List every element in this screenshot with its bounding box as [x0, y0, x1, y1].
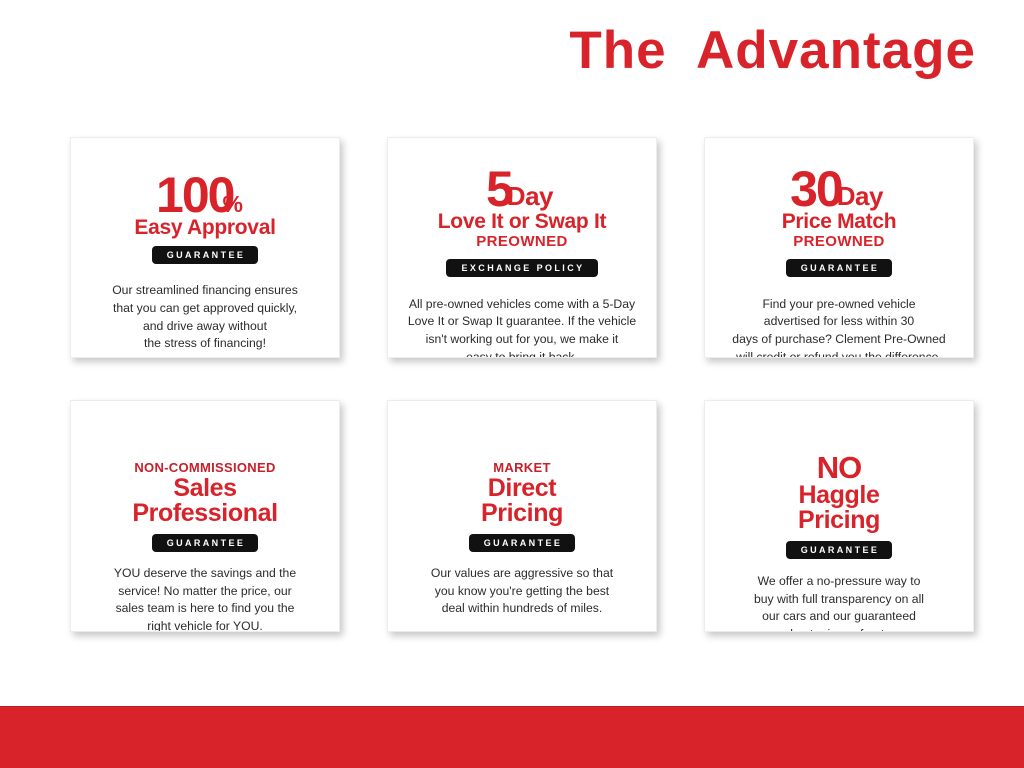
headline-number: 30 — [790, 168, 842, 211]
headline-combo: 5 Day — [486, 168, 558, 211]
headline-line-1: Direct — [488, 476, 556, 501]
guarantee-badge: GUARANTEE — [469, 534, 576, 552]
advantage-card-easy-approval[interactable]: 100 % Easy Approval GUARANTEE Our stream… — [70, 137, 340, 358]
card-headline-block: NON-COMMISSIONED Sales Professional GUAR… — [83, 461, 327, 552]
card-body-text: We offer a no-pressure way to buy with f… — [750, 573, 928, 632]
page-header: The Advantage — [0, 0, 1024, 100]
card-body-text: All pre-owned vehicles come with a 5-Day… — [404, 296, 640, 358]
card-headline-block: 5 Day Love It or Swap It PREOWNED EXCHAN… — [400, 168, 644, 277]
headline-subtitle: Price Match — [782, 211, 897, 232]
headline-day-suffix: Day — [837, 183, 883, 209]
headline-mega: NO — [817, 452, 862, 483]
headline-line-1: Sales — [173, 476, 236, 501]
exchange-policy-badge: EXCHANGE POLICY — [446, 259, 597, 277]
headline-line-2: Professional — [132, 501, 277, 526]
advantage-page: The Advantage 100 % Easy Approval GUARAN… — [0, 0, 1024, 768]
advantage-card-grid: 100 % Easy Approval GUARANTEE Our stream… — [70, 137, 974, 632]
card-headline-block: 100 % Easy Approval GUARANTEE — [83, 174, 327, 264]
card-headline-block: MARKET Direct Pricing GUARANTEE — [400, 461, 644, 552]
advantage-card-love-it-or-swap-it[interactable]: 5 Day Love It or Swap It PREOWNED EXCHAN… — [387, 137, 657, 358]
headline-subtitle: Love It or Swap It — [438, 211, 606, 232]
card-headline-block: 30 Day Price Match PREOWNED GUARANTEE — [717, 168, 961, 277]
headline-preowned-caps: PREOWNED — [793, 233, 885, 250]
guarantee-badge: GUARANTEE — [786, 541, 893, 559]
headline-preowned-caps: PREOWNED — [476, 233, 568, 250]
card-headline-block: NO Haggle Pricing GUARANTEE — [717, 452, 961, 559]
headline-subtitle: Easy Approval — [134, 217, 275, 238]
headline-day-suffix: Day — [507, 183, 553, 209]
headline-line-2: Pricing — [798, 508, 880, 533]
card-body-text: Find your pre-owned vehicle advertised f… — [728, 296, 949, 358]
headline-percent-suffix: % — [222, 193, 242, 216]
advantage-card-non-commissioned-sales[interactable]: NON-COMMISSIONED Sales Professional GUAR… — [70, 400, 340, 632]
advantage-card-market-direct-pricing[interactable]: MARKET Direct Pricing GUARANTEE Our valu… — [387, 400, 657, 632]
guarantee-badge: GUARANTEE — [152, 246, 259, 264]
headline-combo: 30 Day — [790, 168, 888, 211]
headline-line-1: Haggle — [799, 483, 880, 508]
headline-line-2: Pricing — [481, 501, 563, 526]
card-body-text: Our streamlined financing ensures that y… — [108, 282, 302, 353]
advantage-card-no-haggle-pricing[interactable]: NO Haggle Pricing GUARANTEE We offer a n… — [704, 400, 974, 632]
advantage-card-price-match[interactable]: 30 Day Price Match PREOWNED GUARANTEE Fi… — [704, 137, 974, 358]
guarantee-badge: GUARANTEE — [152, 534, 259, 552]
card-body-text: Our values are aggressive so that you kn… — [427, 565, 617, 618]
card-body-text: YOU deserve the savings and the service!… — [110, 565, 300, 632]
page-title: The Advantage — [569, 24, 976, 77]
headline-combo: 100 % — [156, 174, 254, 217]
guarantee-badge: GUARANTEE — [786, 259, 893, 277]
bottom-red-bar — [0, 706, 1024, 768]
